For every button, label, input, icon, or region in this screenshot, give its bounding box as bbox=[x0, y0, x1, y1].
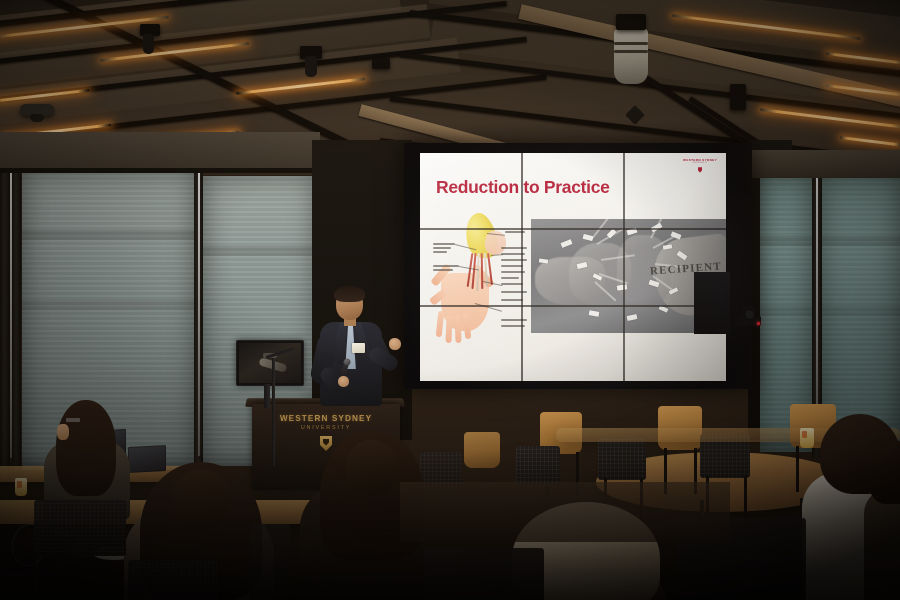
glasses-icon bbox=[66, 418, 80, 422]
attendee-hair bbox=[56, 400, 116, 496]
slide-title: Reduction to Practice bbox=[436, 177, 610, 198]
panel-bezel bbox=[521, 153, 523, 381]
laptop[interactable] bbox=[128, 445, 166, 473]
presenter-left-hand bbox=[338, 376, 349, 387]
video-wall-enclosure: Reduction to Practice WESTERN SYDNEY UNI… bbox=[404, 143, 752, 389]
chair[interactable] bbox=[424, 548, 544, 600]
cup-logo-icon bbox=[17, 481, 22, 488]
panel-bezel bbox=[623, 153, 625, 381]
attendee-hair bbox=[868, 440, 900, 504]
ceiling-led-strip bbox=[840, 136, 900, 147]
name-badge bbox=[352, 343, 365, 353]
mesh-chair[interactable] bbox=[516, 446, 560, 486]
ceiling-spotlight bbox=[305, 56, 317, 77]
presentation-photograph: Reduction to Practice WESTERN SYDNEY UNI… bbox=[0, 0, 900, 600]
screen-edge-shadow bbox=[726, 143, 752, 389]
panel-bezel bbox=[420, 305, 726, 307]
ceiling-spotlight bbox=[730, 84, 746, 110]
ceiling-spotlight bbox=[30, 114, 44, 122]
ceiling-spotlight bbox=[372, 58, 390, 69]
wsu-shield-icon bbox=[320, 436, 332, 451]
wooden-chair[interactable] bbox=[464, 432, 500, 468]
wsu-logo-line2: UNIVERSITY bbox=[683, 162, 717, 165]
presentation-slide: Reduction to Practice WESTERN SYDNEY UNI… bbox=[420, 153, 726, 381]
wall-band bbox=[0, 132, 320, 172]
laptop-screen bbox=[129, 446, 165, 472]
presenter-right-hand bbox=[389, 338, 401, 350]
ceiling-projector bbox=[614, 28, 648, 84]
presenter-hair bbox=[334, 286, 365, 302]
camera-record-indicator bbox=[757, 322, 760, 325]
wall-trim bbox=[0, 168, 320, 173]
panel-bezel bbox=[420, 228, 726, 230]
mesh-chair[interactable] bbox=[34, 500, 126, 556]
camera-lens-icon bbox=[744, 309, 755, 320]
coffee-cup bbox=[15, 478, 27, 496]
wsu-shield-icon bbox=[698, 167, 702, 172]
mesh-chair[interactable] bbox=[598, 438, 646, 480]
video-wall[interactable]: Reduction to Practice WESTERN SYDNEY UNI… bbox=[420, 153, 726, 381]
floor bbox=[400, 482, 730, 542]
cup-logo-icon bbox=[802, 431, 807, 438]
wall-speaker bbox=[694, 272, 730, 334]
presenter bbox=[300, 288, 430, 418]
anatomical-hand-diagram bbox=[433, 211, 529, 343]
chair[interactable] bbox=[250, 524, 290, 600]
wsu-logo: WESTERN SYDNEY UNIVERSITY bbox=[683, 159, 717, 173]
mesh-chair[interactable] bbox=[128, 560, 218, 600]
microphone-stand bbox=[272, 358, 275, 466]
coffee-cup bbox=[800, 428, 814, 448]
ceiling-spotlight bbox=[143, 34, 154, 54]
projector-mount bbox=[616, 14, 646, 30]
ceiling-spotlight bbox=[625, 105, 645, 125]
monitor-stand bbox=[264, 384, 270, 408]
attendee-hand bbox=[57, 424, 69, 440]
